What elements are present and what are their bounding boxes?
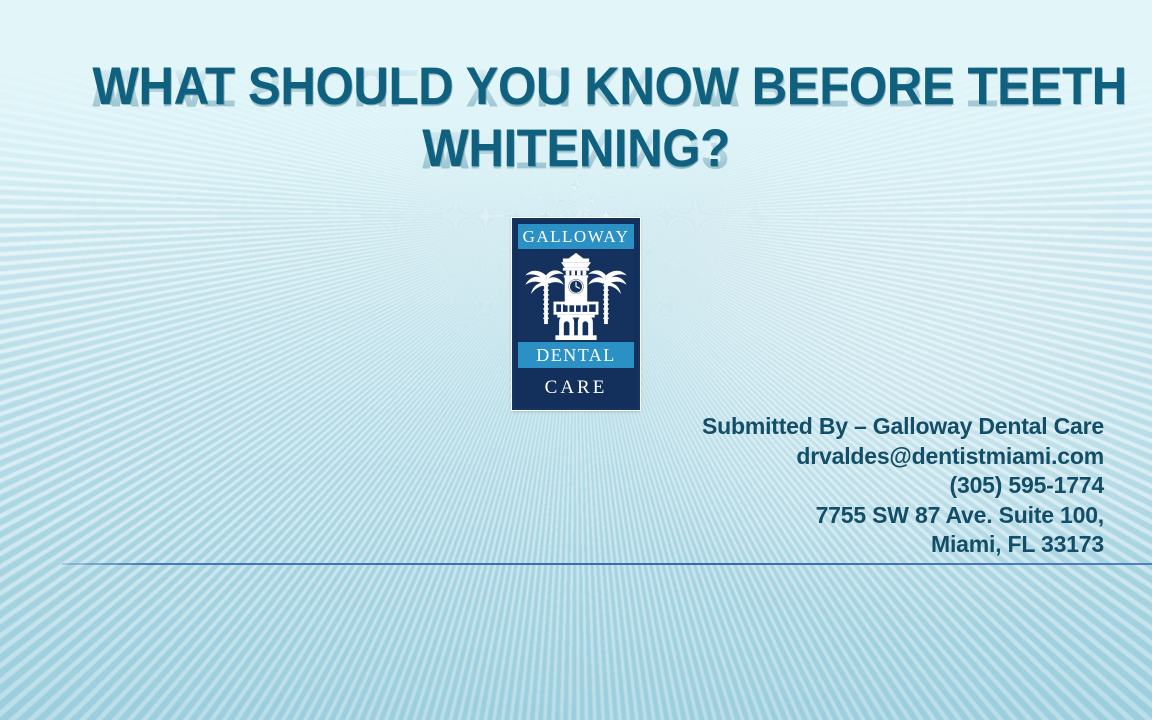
title-line-1: What Should You Know Before Teeth What S…: [92, 56, 1059, 118]
contact-line-submitted-by: Submitted By – Galloway Dental Care: [544, 412, 1104, 442]
clock-tower-icon: [518, 251, 634, 340]
galloway-dental-care-logo: GALLOWAY: [512, 218, 640, 410]
logo-band-care: CARE: [518, 372, 634, 404]
contact-block: Submitted By – Galloway Dental Care drva…: [544, 412, 1104, 560]
contact-line-phone: (305) 595-1774: [544, 471, 1104, 501]
contact-line-city-state-zip: Miami, FL 33173: [544, 530, 1104, 560]
title-line-2-text: Whitening?: [422, 119, 729, 178]
title-line-1-text: What Should You Know Before Teeth: [92, 57, 1126, 116]
contact-line-email: drvaldes@dentistmiami.com: [544, 442, 1104, 472]
divider-line: [62, 563, 1152, 565]
contact-line-address: 7755 SW 87 Ave. Suite 100,: [544, 501, 1104, 531]
slide-title: What Should You Know Before Teeth What S…: [56, 56, 1096, 180]
logo-band-galloway: GALLOWAY: [518, 224, 634, 249]
presentation-slide: What Should You Know Before Teeth What S…: [0, 0, 1152, 720]
title-line-2: Whitening? Whitening?: [92, 118, 1059, 180]
logo-band-dental: DENTAL: [518, 342, 634, 368]
